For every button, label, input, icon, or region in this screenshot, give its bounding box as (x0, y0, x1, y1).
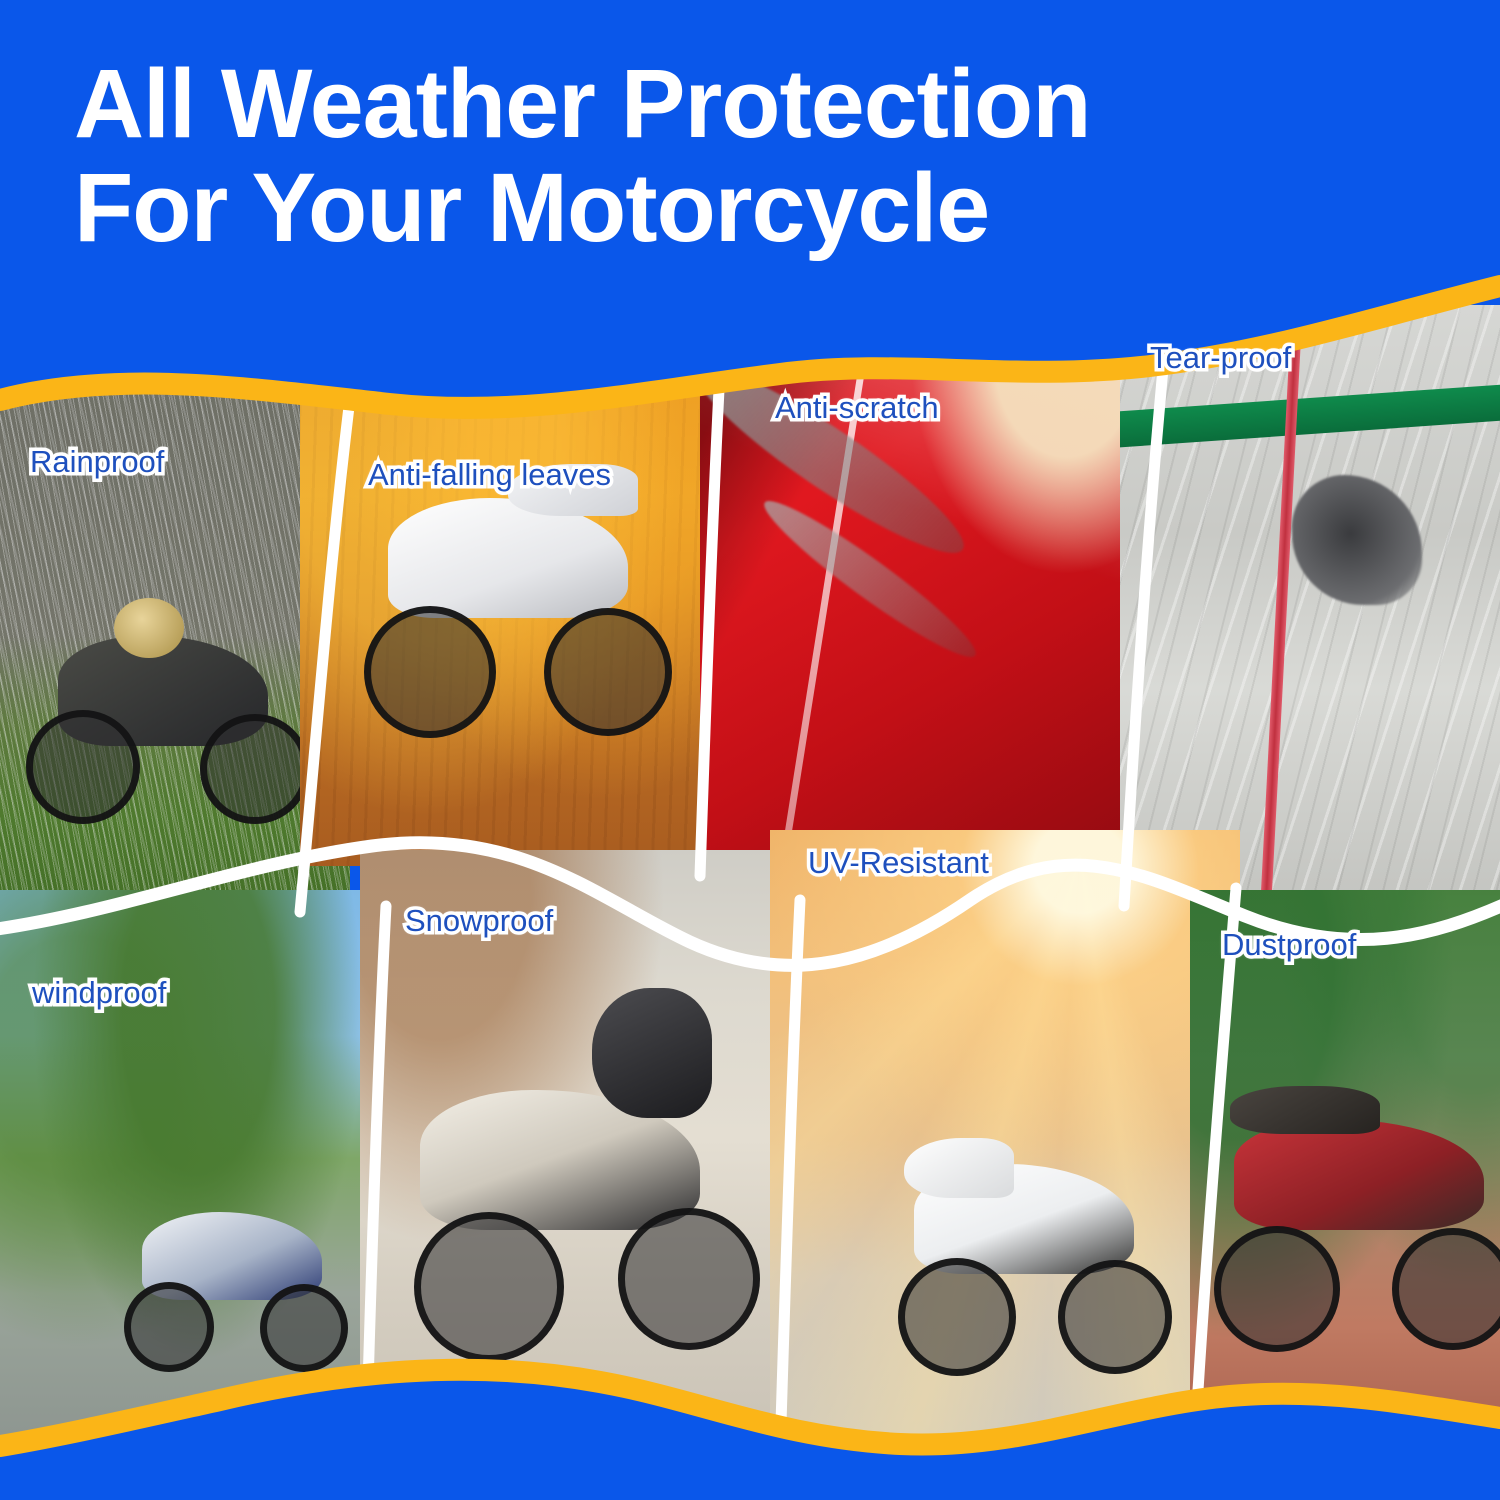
feature-label-windproof: windproof (32, 975, 166, 1011)
feature-panel-anti-falling-leaves (300, 366, 720, 866)
green-strap (1120, 382, 1500, 448)
wheel-icon (414, 1212, 564, 1362)
motorcycle-silhouette (420, 1090, 700, 1230)
wheel-icon (1392, 1228, 1500, 1350)
wheel-icon (898, 1258, 1016, 1376)
motorcycle-silhouette (58, 636, 268, 746)
motorcycle-silhouette (914, 1164, 1134, 1274)
poster-headline: All Weather Protection For Your Motorcyc… (74, 52, 1374, 260)
wheel-icon (26, 710, 140, 824)
wheel-icon (1058, 1260, 1172, 1374)
wheel-icon (200, 714, 310, 824)
motorcycle-silhouette (142, 1212, 322, 1300)
feature-label-anti-scratch: Anti-scratch (775, 390, 939, 426)
wheel-icon (364, 606, 496, 738)
feature-label-dustproof: Dustproof (1222, 927, 1356, 963)
headline-line-1: All Weather Protection (74, 49, 1090, 158)
feature-panel-dustproof (1190, 890, 1500, 1450)
feature-panel-tear-proof (1120, 305, 1500, 905)
red-strap (1260, 305, 1303, 905)
feature-panel-snowproof (360, 850, 800, 1450)
feature-panel-uv-resistant (770, 830, 1240, 1450)
wheel-icon (260, 1284, 348, 1372)
feature-label-tear-proof: Tear-proof (1150, 340, 1291, 376)
motorcycle-silhouette (388, 498, 628, 618)
feature-label-uv-resistant: UV-Resistant (808, 845, 989, 881)
feature-label-anti-falling-leaves: Anti-falling leaves (368, 457, 611, 493)
tear-hole (1292, 475, 1422, 605)
feature-label-rainproof: Rainproof (30, 444, 164, 480)
motorcycle-silhouette (1234, 1120, 1484, 1230)
wheel-icon (1214, 1226, 1340, 1352)
feature-panel-windproof (0, 890, 390, 1450)
wheel-icon (618, 1208, 760, 1350)
product-feature-poster: All Weather Protection For Your Motorcyc… (0, 0, 1500, 1500)
headline-line-2: For Your Motorcycle (74, 156, 1374, 260)
wheel-icon (544, 608, 672, 736)
wheel-icon (124, 1282, 214, 1372)
feature-label-snowproof: Snowproof (405, 903, 553, 939)
